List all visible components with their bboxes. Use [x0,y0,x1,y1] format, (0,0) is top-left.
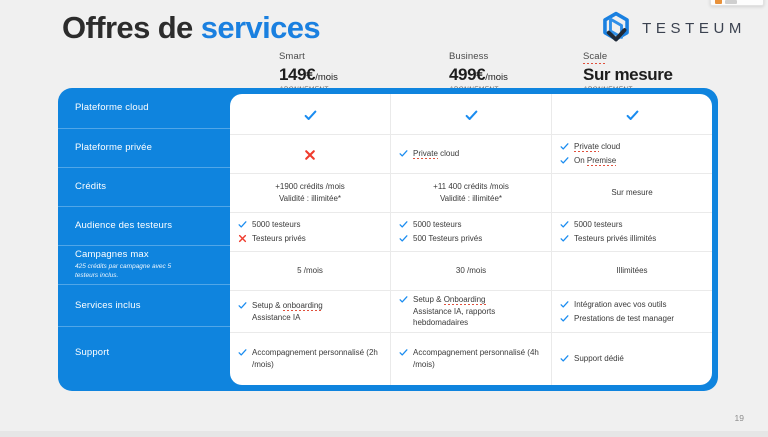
check-icon [560,354,569,363]
feature-label-4: Audience des testeurs [58,207,230,246]
bottom-strip [0,431,768,437]
check-icon [399,220,408,229]
cell-support-business: Accompagnement personnalisé (4h /mois) [391,333,552,385]
spellcheck-word: Onboarding [444,295,486,305]
spellcheck-word: Private [413,149,438,159]
check-icon [560,314,569,323]
page-title-part2: services [201,10,320,45]
feature-item-text: Private cloud [574,141,620,153]
feature-item: Prestations de test manager [560,313,674,325]
check-icon [560,300,569,309]
feature-item-text: Prestations de test manager [574,313,674,325]
check-icon [399,234,408,243]
feature-item-text: 5000 testeurs [574,219,622,231]
feature-item: Testeurs privés [238,233,306,245]
feature-item-text: Intégration avec vos outils [574,299,667,311]
plan-price: 149€/mois [279,65,338,84]
cell-services-smart: Setup & onboardingAssistance IA [230,291,391,332]
cell-private-smart [230,135,391,173]
feature-label-title: Audience des testeurs [75,220,230,232]
feature-item: 5000 testeurs [238,219,300,231]
cell-cloud-scale [552,94,712,134]
pricing-comparison-panel: Plateforme cloudPlateforme privéeCrédits… [58,88,718,391]
feature-label-6: Services inclus [58,285,230,327]
feature-item: 5000 testeurs [399,219,461,231]
browser-overlay-artifact [710,0,764,6]
check-icon [238,220,247,229]
cell-line: Illimitées [616,265,647,277]
check-icon [560,234,569,243]
plan-header-smart: Smart 149€/mois ABONNEMENT [279,46,338,93]
check-icon [238,301,247,310]
check-icon [399,295,408,304]
check-icon [304,109,317,122]
placeholder-dots [725,0,737,4]
check-icon [626,109,639,122]
feature-item-text: On Premise [574,155,616,167]
cell-support-smart: Accompagnement personnalisé (2h /mois) [230,333,391,385]
cross-icon [304,149,316,161]
plan-header-scale: Scale Sur mesure ABONNEMENT [583,46,673,93]
feature-item-text: Testeurs privés [252,233,306,245]
spellcheck-word: onboarding [283,301,323,311]
cell-line: Validité : illimitée* [279,193,341,205]
cell-services-business: Setup & OnboardingAssistance IA, rapport… [391,291,552,332]
cell-audience-smart: 5000 testeursTesteurs privés [230,213,391,251]
table-row-campaigns: 5 /mois30 /moisIllimitées [230,252,712,291]
cell-services-scale: Intégration avec vos outilsPrestations d… [552,291,712,332]
feature-item-text: Accompagnement personnalisé (2h /mois) [252,347,382,370]
feature-label-title: Support [75,347,230,359]
cell-credits-business: +11 400 crédits /moisValidité : illimité… [391,174,552,212]
cell-audience-scale: 5000 testeursTesteurs privés illimités [552,213,712,251]
feature-item: Setup & OnboardingAssistance IA, rapport… [399,294,543,329]
feature-label-title: Plateforme privée [75,142,230,154]
feature-item-text: Support dédié [574,353,624,365]
check-icon [238,348,247,357]
check-icon [560,220,569,229]
cell-private-business: Private cloud [391,135,552,173]
cell-audience-business: 5000 testeurs500 Testeurs privés [391,213,552,251]
table-row-private: Private cloudPrivate cloudOn Premise [230,135,712,174]
table-row-credits: +1900 crédits /moisValidité : illimitée*… [230,174,712,213]
feature-item: Setup & onboardingAssistance IA [238,300,323,323]
feature-item-text: Setup & onboardingAssistance IA [252,300,323,323]
feature-label-note: 425 crédits par campagne avec 5 testeurs… [75,263,187,281]
feature-item-text: 5000 testeurs [252,219,300,231]
feature-row-labels: Plateforme cloudPlateforme privéeCrédits… [58,88,230,391]
check-icon [560,156,569,165]
cell-private-scale: Private cloudOn Premise [552,135,712,173]
plan-price-value: Sur mesure [583,65,673,84]
pricing-table: Private cloudPrivate cloudOn Premise+190… [230,94,712,385]
spellcheck-word: Premise [587,156,616,166]
cell-line: 5 /mois [297,265,323,277]
check-icon [560,142,569,151]
feature-item: 500 Testeurs privés [399,233,482,245]
feature-item-text: Testeurs privés illimités [574,233,656,245]
feature-item-text: Accompagnement personnalisé (4h /mois) [413,347,543,370]
table-row-audience: 5000 testeursTesteurs privés5000 testeur… [230,213,712,252]
cell-credits-smart: +1900 crédits /moisValidité : illimitée* [230,174,391,212]
plan-price: 499€/mois [449,65,508,84]
cell-line: +11 400 crédits /mois [433,181,509,193]
plan-header-business: Business 499€/mois ABONNEMENT [449,46,508,93]
page-title-part1: Offres de [62,10,201,45]
cell-campaigns-smart: 5 /mois [230,252,391,290]
feature-item-text: 5000 testeurs [413,219,461,231]
plan-name: Smart [279,52,305,63]
feature-label-3: Crédits [58,168,230,207]
cell-line: +1900 crédits /mois [275,181,345,193]
feature-item: Support dédié [560,353,624,365]
feature-label-1: Plateforme cloud [58,88,230,129]
feature-label-2: Plateforme privée [58,129,230,168]
testeum-hexagon-logo-icon [599,11,633,45]
plan-name: Scale [583,52,607,64]
feature-item: 5000 testeurs [560,219,622,231]
feature-item: Accompagnement personnalisé (4h /mois) [399,347,543,370]
cell-credits-scale: Sur mesure [552,174,712,212]
feature-item: Accompagnement personnalisé (2h /mois) [238,347,382,370]
feature-label-title: Services inclus [75,300,230,312]
table-row-services: Setup & onboardingAssistance IASetup & O… [230,291,712,333]
pin-icon [715,0,722,4]
plan-price-value: 499€ [449,65,485,84]
cross-icon [238,234,247,243]
feature-label-title: Crédits [75,181,230,193]
cell-support-scale: Support dédié [552,333,712,385]
plan-price: Sur mesure [583,65,673,84]
plan-price-period: /mois [315,72,338,83]
cell-cloud-smart [230,94,391,134]
feature-item: Intégration avec vos outils [560,299,667,311]
feature-item-text: 500 Testeurs privés [413,233,482,245]
table-row-cloud [230,94,712,135]
table-row-support: Accompagnement personnalisé (2h /mois)Ac… [230,333,712,385]
plan-price-value: 149€ [279,65,315,84]
feature-label-title: Campagnes max [75,249,230,261]
brand-name: TESTEUM [642,20,746,37]
feature-item-text: Setup & OnboardingAssistance IA, rapport… [413,294,543,329]
check-icon [399,348,408,357]
feature-label-5: Campagnes max425 crédits par campagne av… [58,246,230,285]
spellcheck-word: Private [574,142,599,152]
feature-item-text: Private cloud [413,148,459,160]
feature-label-7: Support [58,327,230,379]
plan-name: Business [449,52,488,63]
check-icon [465,109,478,122]
feature-item: Private cloud [560,141,620,153]
feature-item: On Premise [560,155,616,167]
feature-label-title: Plateforme cloud [75,102,230,114]
cell-campaigns-business: 30 /mois [391,252,552,290]
feature-item: Private cloud [399,148,459,160]
feature-item: Testeurs privés illimités [560,233,656,245]
cell-line: 30 /mois [456,265,486,277]
brand-logo: TESTEUM [599,11,746,45]
page-number: 19 [735,413,744,423]
plan-price-period: /mois [485,72,508,83]
page-title: Offres de services [62,10,320,46]
cell-line: Validité : illimitée* [440,193,502,205]
check-icon [399,149,408,158]
cell-campaigns-scale: Illimitées [552,252,712,290]
cell-cloud-business [391,94,552,134]
cell-line: Sur mesure [611,187,652,199]
